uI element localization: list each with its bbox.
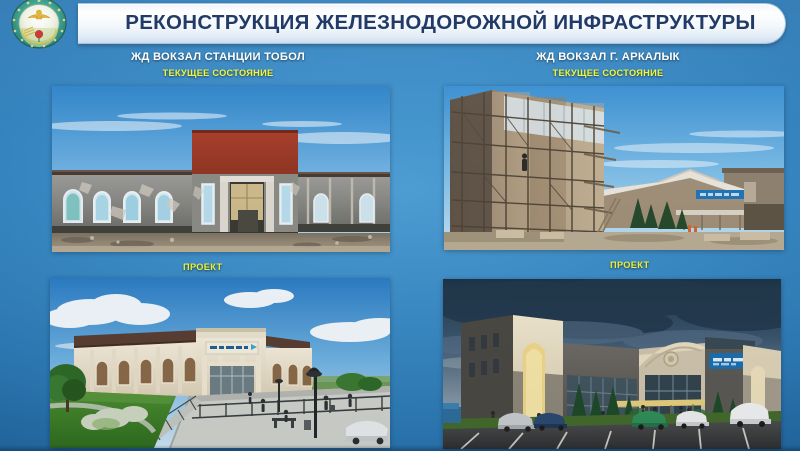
photo-tobol-project [50, 278, 390, 448]
photo-arkalyk-project [443, 279, 781, 449]
bottom-vignette [0, 445, 800, 451]
column-caption-arkalyk: ЖД ВОКЗАЛ Г. АРКАЛЫК ТЕКУЩЕЕ СОСТОЯНИЕ [438, 50, 778, 79]
photo-arkalyk-current [444, 86, 784, 250]
current-state-label-tobol: ТЕКУЩЕЕ СОСТОЯНИЕ [48, 67, 388, 79]
project-label-arkalyk: ПРОЕКТ [610, 260, 649, 270]
coat-of-arms-emblem-icon [10, 0, 68, 50]
station-heading-arkalyk: ЖД ВОКЗАЛ Г. АРКАЛЫК [438, 50, 778, 64]
slide-header: РЕКОНСТРУКЦИЯ ЖЕЛЕЗНОДОРОЖНОЙ ИНФРАСТРУК… [0, 0, 800, 50]
photo-tobol-current [52, 86, 390, 252]
current-state-label-arkalyk: ТЕКУЩЕЕ СОСТОЯНИЕ [438, 67, 778, 79]
slide-title-bar: РЕКОНСТРУКЦИЯ ЖЕЛЕЗНОДОРОЖНОЙ ИНФРАСТРУК… [78, 3, 786, 44]
page-title: РЕКОНСТРУКЦИЯ ЖЕЛЕЗНОДОРОЖНОЙ ИНФРАСТРУК… [107, 13, 756, 34]
column-caption-tobol: ЖД ВОКЗАЛ СТАНЦИИ ТОБОЛ ТЕКУЩЕЕ СОСТОЯНИ… [48, 50, 388, 79]
project-label-tobol: ПРОЕКТ [183, 262, 222, 272]
station-heading-tobol: ЖД ВОКЗАЛ СТАНЦИИ ТОБОЛ [48, 50, 388, 64]
presentation-slide: РЕКОНСТРУКЦИЯ ЖЕЛЕЗНОДОРОЖНОЙ ИНФРАСТРУК… [0, 0, 800, 451]
